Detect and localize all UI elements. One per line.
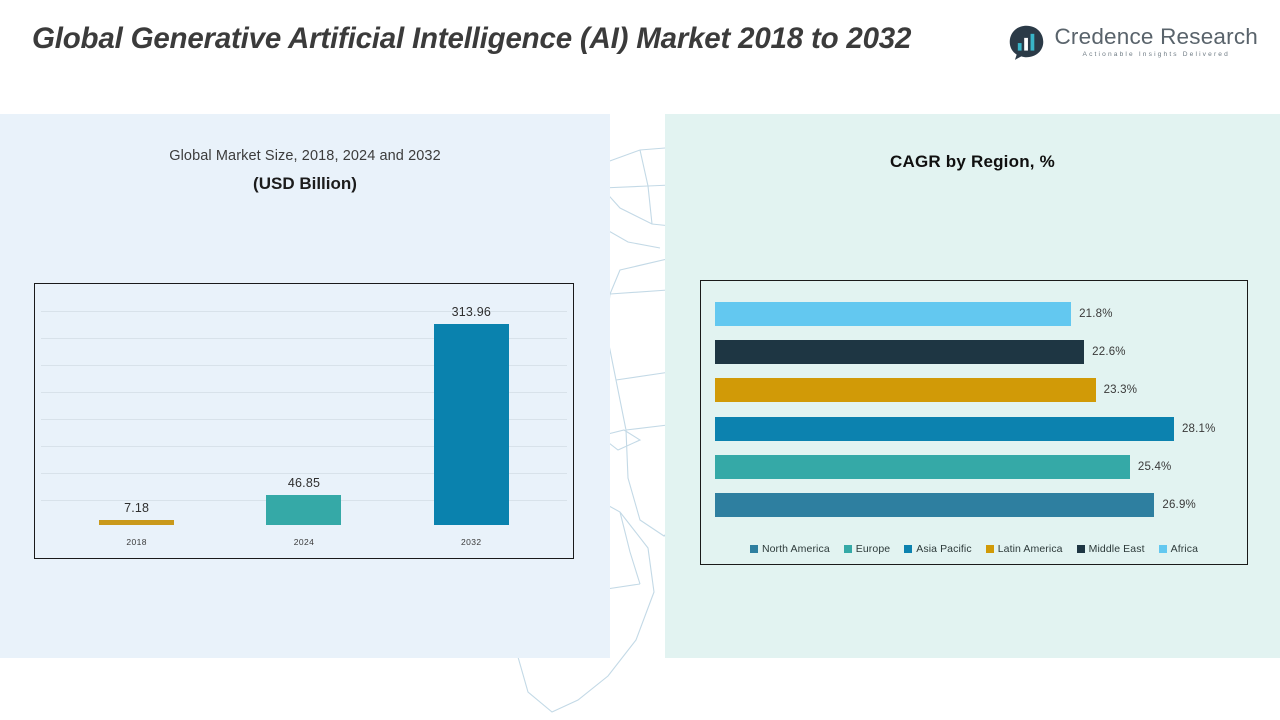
bar-column: 46.85	[229, 296, 380, 525]
x-axis-tick-label: 2032	[396, 537, 547, 547]
bar-column: 7.18	[61, 296, 212, 525]
bar-value-label: 7.18	[124, 501, 149, 515]
bar-row: 21.8%	[701, 302, 1247, 326]
bar[interactable]	[266, 495, 341, 525]
bar-value-label: 313.96	[452, 305, 491, 319]
bar-value-label: 22.6%	[1092, 346, 1126, 358]
bar-row: 22.6%	[701, 340, 1247, 364]
page-title: Global Generative Artificial Intelligenc…	[32, 18, 992, 60]
bar-chart-bubble-icon	[1008, 24, 1045, 61]
logo-text-block: Credence Research Actionable Insights De…	[1054, 26, 1258, 59]
legend-label: Africa	[1171, 543, 1198, 555]
left-chart-x-axis: 201820242032	[53, 525, 555, 558]
bar-value-label: 26.9%	[1162, 499, 1196, 511]
legend-label: Latin America	[998, 543, 1063, 555]
legend-item[interactable]: Asia Pacific	[904, 543, 971, 555]
left-chart-units: (USD Billion)	[0, 174, 610, 194]
legend-swatch	[1159, 545, 1167, 553]
legend-label: Middle East	[1089, 543, 1145, 555]
right-chart-title: CAGR by Region, %	[665, 152, 1280, 172]
market-size-bar-chart: 7.1846.85313.96 201820242032	[34, 283, 574, 559]
bar-value-label: 25.4%	[1138, 461, 1172, 473]
bar-row: 26.9%	[701, 493, 1247, 517]
bar[interactable]	[715, 340, 1084, 364]
bar[interactable]	[434, 324, 509, 525]
left-chart-subtitle: Global Market Size, 2018, 2024 and 2032	[0, 148, 610, 164]
legend-item[interactable]: Latin America	[986, 543, 1063, 555]
right-chart-legend: North AmericaEuropeAsia PacificLatin Ame…	[701, 543, 1247, 555]
right-chart-heading: CAGR by Region, %	[665, 152, 1280, 172]
left-chart-bars: 7.1846.85313.96	[53, 296, 555, 525]
bar-row: 28.1%	[701, 417, 1247, 441]
bar[interactable]	[715, 378, 1096, 402]
legend-label: Europe	[856, 543, 890, 555]
bar[interactable]	[715, 302, 1071, 326]
left-chart-heading: Global Market Size, 2018, 2024 and 2032 …	[0, 148, 610, 194]
legend-swatch	[1077, 545, 1085, 553]
bar-column: 313.96	[396, 296, 547, 525]
brand-logo: Credence Research Actionable Insights De…	[1008, 24, 1258, 61]
legend-swatch	[844, 545, 852, 553]
legend-item[interactable]: Europe	[844, 543, 890, 555]
legend-item[interactable]: Middle East	[1077, 543, 1145, 555]
left-chart-plot-area: 7.1846.85313.96 201820242032	[35, 284, 573, 558]
legend-swatch	[986, 545, 994, 553]
bar-value-label: 28.1%	[1182, 423, 1216, 435]
legend-swatch	[750, 545, 758, 553]
logo-tagline: Actionable Insights Delivered	[1054, 52, 1258, 59]
page-header: Global Generative Artificial Intelligenc…	[0, 0, 1280, 114]
legend-label: North America	[762, 543, 830, 555]
legend-swatch	[904, 545, 912, 553]
bar-value-label: 21.8%	[1079, 308, 1113, 320]
legend-item[interactable]: Africa	[1159, 543, 1198, 555]
bar[interactable]	[715, 417, 1174, 441]
bar-row: 23.3%	[701, 378, 1247, 402]
bar-row: 25.4%	[701, 455, 1247, 479]
bar-value-label: 23.3%	[1104, 384, 1138, 396]
cagr-by-region-bar-chart: 21.8%22.6%23.3%28.1%25.4%26.9% North Ame…	[700, 280, 1248, 565]
legend-item[interactable]: North America	[750, 543, 830, 555]
bar[interactable]	[715, 455, 1130, 479]
right-chart-bars: 21.8%22.6%23.3%28.1%25.4%26.9%	[701, 295, 1247, 524]
bar[interactable]	[715, 493, 1154, 517]
bar-value-label: 46.85	[288, 476, 320, 490]
logo-company-name: Credence Research	[1054, 26, 1258, 49]
x-axis-tick-label: 2024	[229, 537, 380, 547]
legend-label: Asia Pacific	[916, 543, 971, 555]
x-axis-tick-label: 2018	[61, 537, 212, 547]
